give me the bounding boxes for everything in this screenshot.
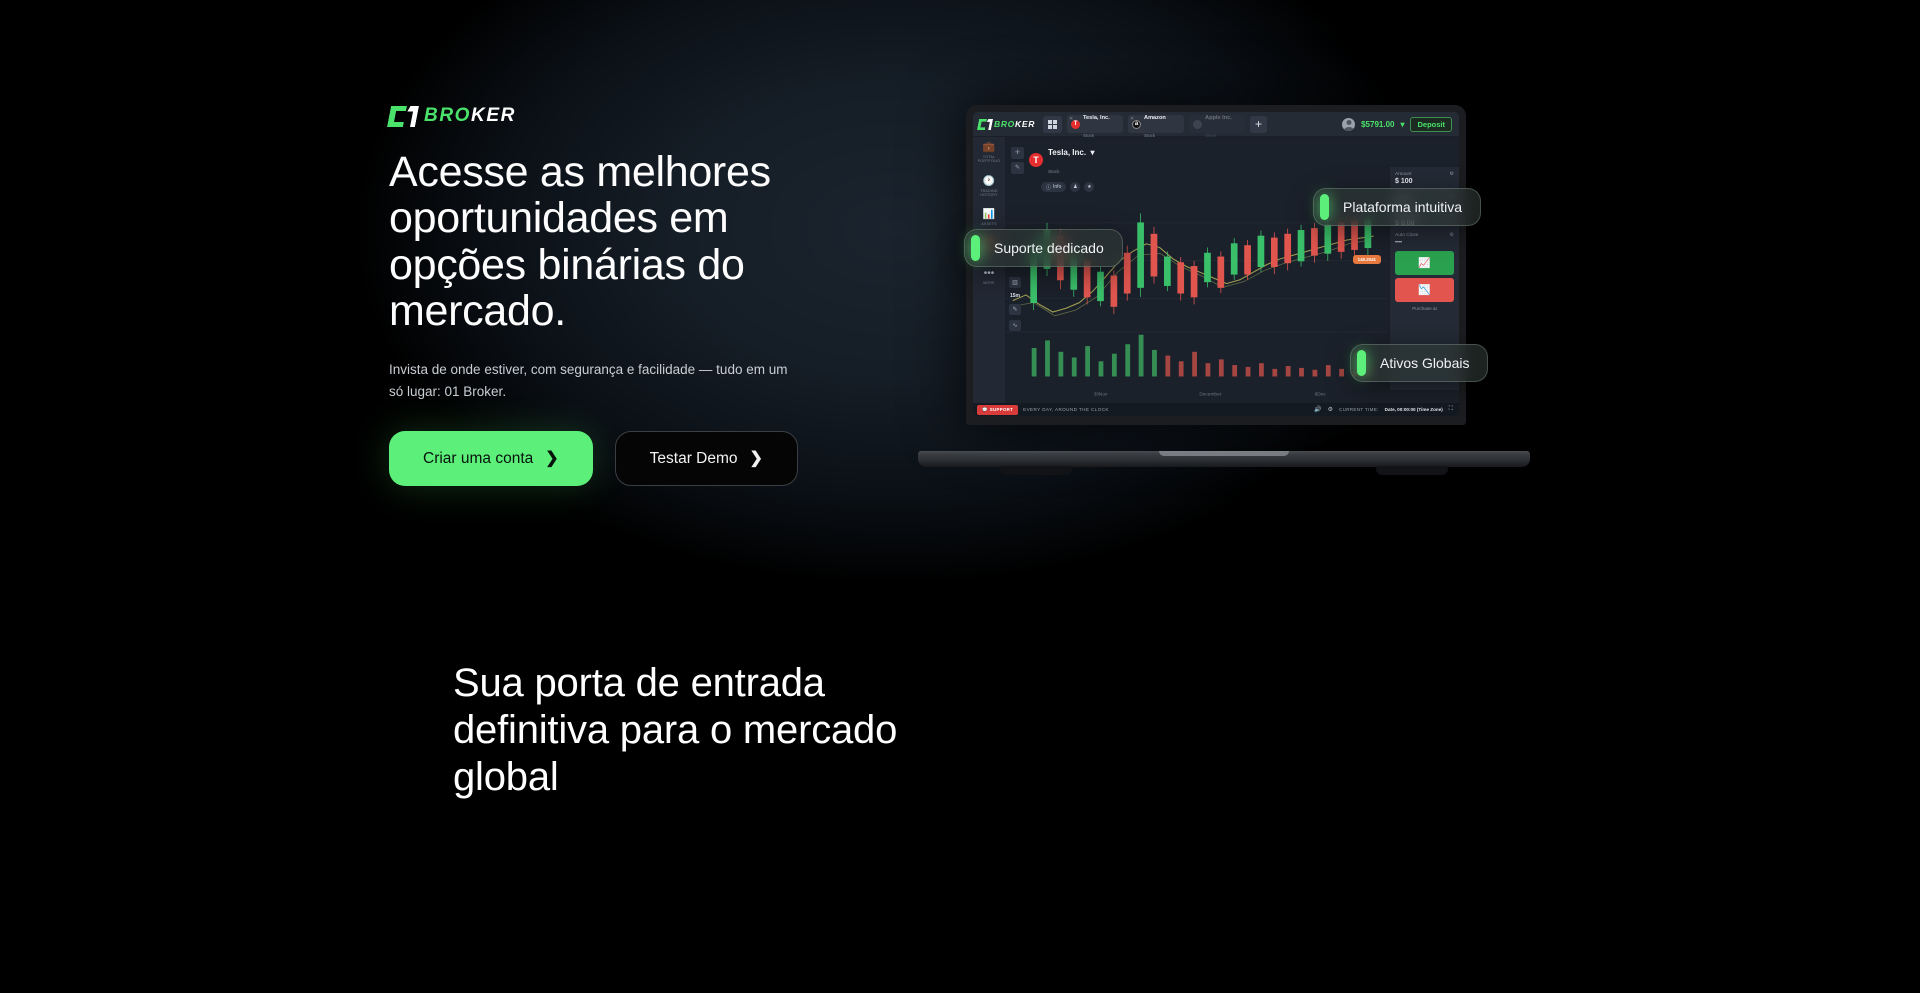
chart-tool-column: ✛ ✎ <box>1011 147 1024 174</box>
gear-icon[interactable]: ⚙ <box>1328 406 1333 413</box>
chart-tools: ▥ 15m ✎ ∿ <box>1009 277 1021 331</box>
support-button[interactable]: 💬 SUPPORT <box>977 405 1018 415</box>
current-time-value: Date, 00:00:00 (Time Zone) <box>1385 407 1443 412</box>
current-time-label: CURRENT TIME: <box>1339 407 1379 412</box>
close-icon[interactable]: ✕ <box>1130 116 1134 122</box>
grid-menu-icon[interactable] <box>1043 116 1062 133</box>
ellipsis-icon: ••• <box>984 269 995 279</box>
purchase-at-label: Purchase at <box>1395 306 1454 311</box>
sidebar-item-assets[interactable]: 📊 ASSETS <box>981 210 996 226</box>
feature-pill-ativos-globais[interactable]: Ativos Globais <box>1350 344 1488 382</box>
timeframe-label[interactable]: 15m <box>1010 293 1020 299</box>
laptop-foot-right <box>1376 466 1448 475</box>
close-icon[interactable]: ✕ <box>1069 116 1073 122</box>
chart-bar-icon: 📊 <box>983 210 995 220</box>
tab-amazon-name: Amazon <box>1144 115 1166 121</box>
platform-logo-zero-icon <box>977 119 987 130</box>
feature-pill-label: Ativos Globais <box>1380 355 1469 371</box>
amount-value: $ 100 <box>1395 178 1454 185</box>
deposit-button[interactable]: Deposit <box>1410 117 1452 132</box>
create-account-button[interactable]: Criar uma conta ❯ <box>389 431 593 486</box>
price-tag-badge: 149.2041 <box>1353 255 1381 264</box>
tab-apple[interactable]: Apple Inc. Stock <box>1189 115 1245 133</box>
sidebar-label: ASSETS <box>981 222 996 226</box>
briefcase-icon: 💼 <box>983 143 995 153</box>
section-title: Sua porta de entrada definitiva para o m… <box>453 660 973 800</box>
platform-logo-green: BRO <box>994 119 1015 129</box>
tab-amazon[interactable]: ✕ a Amazon Stock <box>1128 115 1184 133</box>
feature-pill-label: Plataforma intuitiva <box>1343 199 1462 215</box>
pencil-icon[interactable]: ✎ <box>1011 162 1024 174</box>
chevron-right-icon: ❯ <box>545 451 558 467</box>
sell-button[interactable]: 📉 <box>1395 278 1454 302</box>
auto-close-value: — <box>1395 239 1454 246</box>
svg-text:8Dec: 8Dec <box>1315 391 1327 397</box>
clock-icon: 🕐 <box>983 177 995 187</box>
cta-row: Criar uma conta ❯ Testar Demo ❯ <box>389 431 859 486</box>
brand-word-white: KER <box>471 105 516 126</box>
sidebar-item-total-portfolio[interactable]: 💼 TOTAL PORTFOLIO <box>973 143 1005 164</box>
auto-close-label: Auto Close <box>1395 233 1418 238</box>
platform-statusbar: 💬 SUPPORT EVERY DAY, AROUND THE CLOCK 🔊 … <box>973 403 1459 416</box>
buy-button[interactable]: 📈 <box>1395 251 1454 275</box>
laptop-mockup: BROKER ✕ T Tesla, Inc. Stock ✕ a <box>918 105 1530 485</box>
asset-name: Tesla, Inc. <box>1048 148 1086 157</box>
tesla-icon: T <box>1029 153 1043 167</box>
laptop-base <box>918 451 1530 467</box>
sidebar-label: MORE <box>983 281 995 285</box>
accent-bar-icon <box>971 235 980 261</box>
test-demo-button[interactable]: Testar Demo ❯ <box>615 431 798 486</box>
page-title: Acesse as melhores oportunidades em opçõ… <box>389 149 859 335</box>
support-tagline: EVERY DAY, AROUND THE CLOCK <box>1023 407 1109 412</box>
hero-subtitle: Invista de onde estiver, com segurança e… <box>389 359 789 403</box>
speaker-icon[interactable]: 🔊 <box>1314 406 1321 413</box>
chevron-down-icon[interactable]: ▾ <box>1400 120 1404 129</box>
order-field-amount[interactable]: Amount⚙ $ 100 <box>1395 171 1454 185</box>
order-field-auto-close[interactable]: Auto Close⚙ — <box>1395 232 1454 246</box>
chevron-right-icon: ❯ <box>750 451 763 467</box>
platform-sidebar: 💼 TOTAL PORTFOLIO 🕐 TRADING HISTORY 📊 AS… <box>973 137 1005 403</box>
gear-icon[interactable]: ⚙ <box>1450 232 1454 238</box>
accent-bar-icon <box>1357 350 1366 376</box>
tab-apple-name: Apple Inc. <box>1205 115 1232 121</box>
topbar-right: $5791.00 ▾ Deposit <box>1342 117 1454 132</box>
logo-mark-icon <box>389 106 419 127</box>
feature-pill-label: Suporte dedicado <box>994 240 1104 256</box>
apple-icon <box>1193 120 1202 129</box>
chart-type-icon[interactable]: ▥ <box>1009 277 1021 288</box>
brand-logo[interactable]: BROKER <box>389 105 859 127</box>
tab-tesla[interactable]: ✕ T Tesla, Inc. Stock <box>1067 115 1123 133</box>
chevron-down-icon[interactable]: ▾ <box>1091 148 1095 157</box>
add-tab-button[interactable]: + <box>1250 116 1267 133</box>
chart-down-icon: 📉 <box>1418 285 1430 296</box>
support-label: SUPPORT <box>990 407 1013 412</box>
svg-text:30Nov: 30Nov <box>1094 391 1108 397</box>
pencil-icon[interactable]: ✎ <box>1009 304 1021 315</box>
sidebar-label: TOTAL PORTFOLIO <box>973 155 1005 164</box>
platform-topbar: BROKER ✕ T Tesla, Inc. Stock ✕ a <box>973 112 1459 137</box>
balance-amount[interactable]: $5791.00 <box>1361 120 1394 129</box>
test-demo-label: Testar Demo <box>650 450 738 468</box>
brand-word-green: BRO <box>424 105 471 126</box>
brand-logo-text: BROKER <box>424 105 516 127</box>
crosshair-icon[interactable]: ✛ <box>1011 147 1024 159</box>
fullscreen-icon[interactable]: ⛶ <box>1449 406 1453 413</box>
gear-icon[interactable]: ⚙ <box>1450 171 1454 177</box>
laptop-foot-left <box>1000 466 1072 475</box>
amount-label: Amount <box>1395 172 1412 177</box>
asset-subtitle: Stock <box>1048 169 1060 174</box>
feature-pill-suporte-dedicado[interactable]: Suporte dedicado <box>964 229 1123 267</box>
landing-page: BROKER Acesse as melhores oportunidades … <box>0 0 1920 993</box>
tab-tesla-name: Tesla, Inc. <box>1083 115 1110 121</box>
sidebar-item-more[interactable]: ••• MORE <box>983 269 995 285</box>
feature-pill-plataforma-intuitiva[interactable]: Plataforma intuitiva <box>1313 188 1481 226</box>
svg-text:December: December <box>1199 391 1221 397</box>
sidebar-label: TRADING HISTORY <box>973 189 1005 198</box>
chat-icon: 💬 <box>982 407 988 413</box>
hero-content: BROKER Acesse as melhores oportunidades … <box>389 105 859 486</box>
platform-logo[interactable]: BROKER <box>978 119 1035 130</box>
create-account-label: Criar uma conta <box>423 450 533 468</box>
avatar[interactable] <box>1342 118 1355 131</box>
indicator-icon[interactable]: ∿ <box>1009 320 1021 331</box>
sidebar-item-trading-history[interactable]: 🕐 TRADING HISTORY <box>973 177 1005 198</box>
chart-up-icon: 📈 <box>1418 258 1430 269</box>
section-gateway: Sua porta de entrada definitiva para o m… <box>453 660 973 800</box>
platform-logo-white: KER <box>1015 119 1035 129</box>
accent-bar-icon <box>1320 194 1329 220</box>
